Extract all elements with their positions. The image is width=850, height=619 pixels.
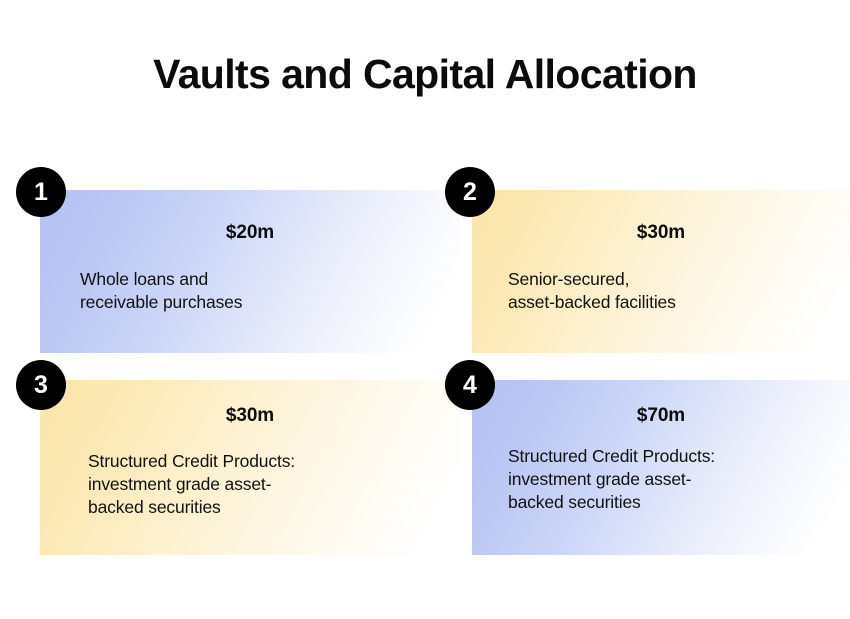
allocation-card-2[interactable]: 2 $30m Senior-secured, asset-backed faci… — [472, 190, 850, 353]
card-content: $70m Structured Credit Products: investm… — [472, 380, 850, 555]
card-description: Senior-secured, asset-backed facilities — [508, 268, 818, 314]
card-content: $20m Whole loans and receivable purchase… — [40, 190, 460, 353]
card-number-badge: 2 — [445, 167, 495, 217]
card-number-badge: 4 — [445, 360, 495, 410]
card-amount: $20m — [40, 222, 460, 244]
card-content: $30m Structured Credit Products: investm… — [40, 380, 460, 555]
card-description: Structured Credit Products: investment g… — [88, 450, 418, 519]
card-amount: $70m — [472, 405, 850, 427]
card-number-badge: 1 — [16, 167, 66, 217]
page-title: Vaults and Capital Allocation — [0, 52, 850, 98]
card-description: Structured Credit Products: investment g… — [508, 445, 828, 514]
card-amount: $30m — [40, 405, 460, 427]
card-content: $30m Senior-secured, asset-backed facili… — [472, 190, 850, 353]
card-amount: $30m — [472, 222, 850, 244]
card-description: Whole loans and receivable purchases — [80, 268, 410, 314]
allocation-card-1[interactable]: 1 $20m Whole loans and receivable purcha… — [40, 190, 460, 353]
allocation-card-grid: 1 $20m Whole loans and receivable purcha… — [0, 190, 850, 560]
slide-canvas: Vaults and Capital Allocation 1 $20m Who… — [0, 0, 850, 619]
allocation-card-3[interactable]: 3 $30m Structured Credit Products: inves… — [40, 380, 460, 555]
allocation-card-4[interactable]: 4 $70m Structured Credit Products: inves… — [472, 380, 850, 555]
card-number-badge: 3 — [16, 360, 66, 410]
